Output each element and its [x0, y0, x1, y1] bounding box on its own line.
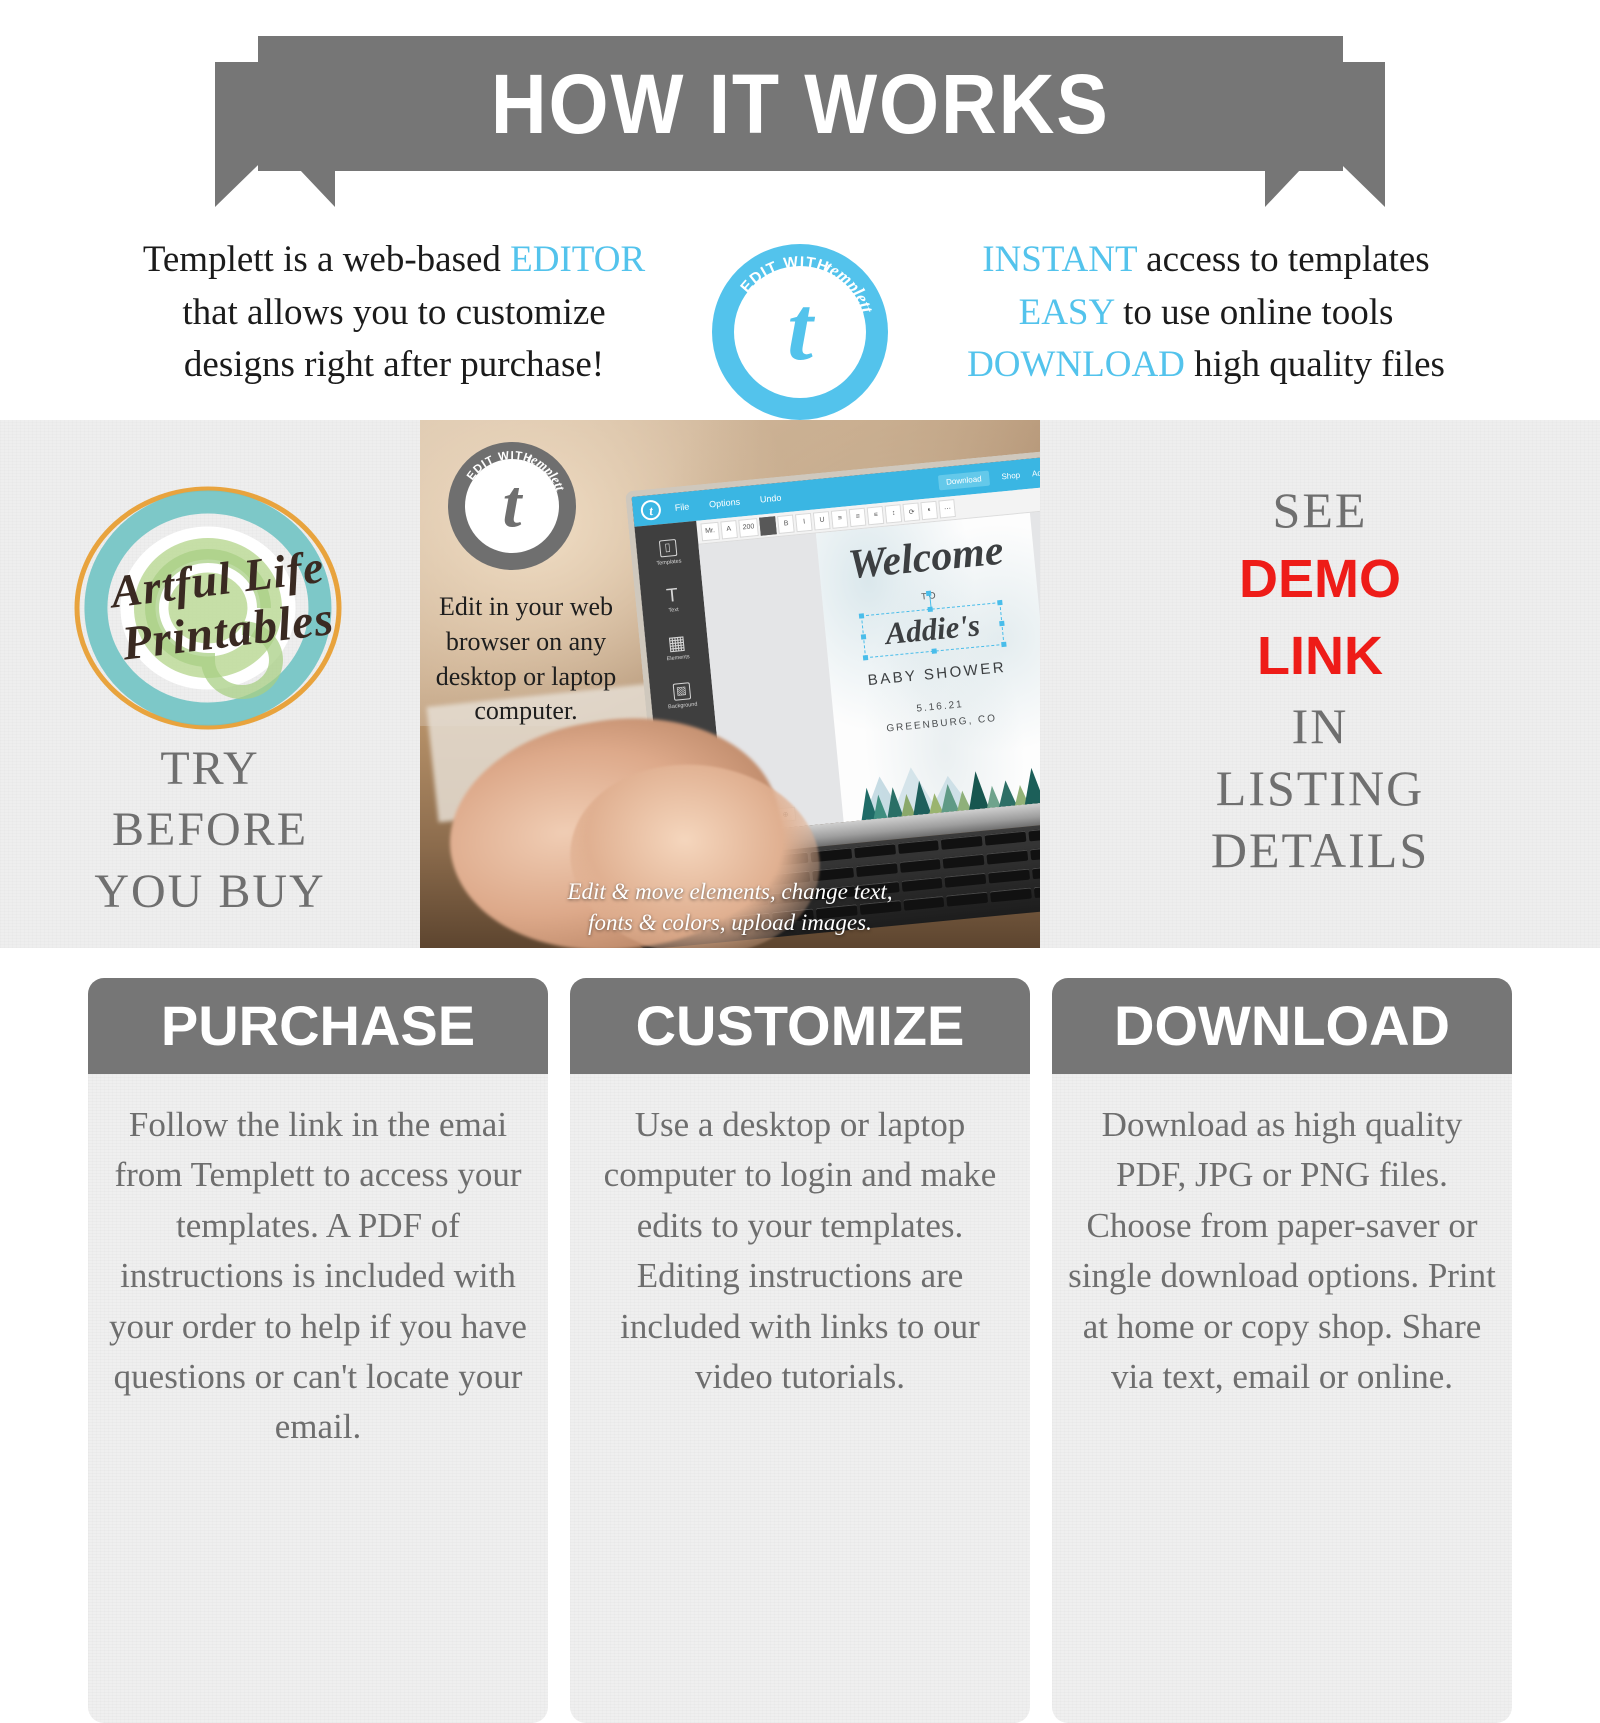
steps-cards: PURCHASE Follow the link in the emai fro… — [0, 978, 1600, 1723]
intro-right-line-3: DOWNLOAD high quality files — [896, 339, 1516, 392]
photo-caption-bottom: Edit & move elements, change text, fonts… — [420, 877, 1040, 938]
align-left-icon[interactable]: ≡ — [831, 509, 849, 528]
demo-link-column: SEE DEMO LINK IN LISTING DETAILS — [1040, 420, 1600, 948]
card-customize-title: CUSTOMIZE — [636, 998, 965, 1054]
intro-right-line-3-post: high quality files — [1185, 344, 1445, 385]
editor-shop-button[interactable]: Shop — [1001, 470, 1020, 481]
intro-left-line-2: that allows you to customize — [84, 287, 704, 340]
editor-logo-icon: t — [640, 499, 662, 521]
resize-handle-bc[interactable] — [932, 648, 937, 653]
intro-right-line-2-accent: EASY — [1019, 292, 1114, 333]
page-title: HOW IT WORKS — [491, 62, 1110, 146]
intro-left-line-1-pre: Templett is a web-based — [143, 239, 510, 280]
intro-right-line-2-post: to use online tools — [1114, 292, 1394, 333]
demo-line-in: IN — [1292, 695, 1349, 757]
badge-top-script: templett — [822, 257, 878, 316]
key — [854, 843, 896, 858]
template-date-location: 5.16.21 GREENBURG, CO — [832, 688, 1040, 742]
card-purchase-body: Follow the link in the emai from Templet… — [88, 1074, 548, 1723]
intro-section: Templett is a web-based EDITOR that allo… — [0, 228, 1600, 418]
try-line-2: BEFORE — [0, 799, 420, 860]
card-download-body: Download as high quality PDF, JPG or PNG… — [1052, 1074, 1512, 1723]
align-center-icon[interactable]: ≡ — [849, 507, 867, 526]
underline-button[interactable]: U — [813, 511, 831, 530]
key — [1029, 826, 1040, 841]
intro-right-line-1-post: access to templates — [1137, 239, 1430, 280]
intro-text-left: Templett is a web-based EDITOR that allo… — [84, 228, 704, 392]
rotate-icon[interactable]: ⟳ — [903, 502, 921, 521]
resize-handle-tl[interactable] — [858, 613, 863, 618]
photo-caption-bottom-line-2: fonts & colors, upload images. — [420, 908, 1040, 938]
intro-left-line-1-accent: EDITOR — [510, 239, 645, 280]
brand-column: Artful Life Printables TRY BEFORE YOU BU… — [0, 420, 420, 948]
card-customize: CUSTOMIZE Use a desktop or laptop comput… — [570, 978, 1030, 1723]
key — [897, 839, 939, 854]
key — [985, 831, 1027, 846]
template-name-text: Addie's — [884, 609, 981, 650]
key — [856, 862, 898, 877]
editor-admin-button[interactable]: Admin — [1032, 467, 1040, 478]
editor-topbar-actions: Download Shop Admin Help — [925, 461, 1040, 492]
key — [941, 835, 983, 850]
templett-badge-grey: t EDIT WITH templett EDITABLE TEMPLATE — [448, 442, 576, 570]
align-right-icon[interactable]: ≡ — [867, 505, 885, 524]
logo-text-group: Artful Life Printables — [54, 466, 363, 750]
card-download-header: DOWNLOAD — [1052, 978, 1512, 1074]
key — [1030, 845, 1040, 860]
key — [899, 858, 941, 873]
template-name-textbox[interactable]: Addie's — [861, 602, 1005, 658]
elements-icon: ▦ — [668, 634, 687, 653]
resize-handle-ml[interactable] — [860, 634, 865, 639]
template-document[interactable]: Welcome TO — [815, 513, 1040, 822]
laptop-photo: t EDIT WITH templett EDITABLE TEMPLATE — [420, 420, 1040, 948]
card-customize-body: Use a desktop or laptop computer to logi… — [570, 1074, 1030, 1723]
card-download-title: DOWNLOAD — [1114, 998, 1450, 1054]
banner-body: HOW IT WORKS — [258, 36, 1343, 171]
editor-menu-options[interactable]: Options — [709, 497, 741, 510]
demo-line-details: DETAILS — [1211, 819, 1429, 881]
middle-band: Artful Life Printables TRY BEFORE YOU BU… — [0, 420, 1600, 948]
key — [943, 854, 985, 869]
try-before-you-buy: TRY BEFORE YOU BUY — [0, 738, 420, 922]
text-color-swatch[interactable] — [760, 516, 778, 535]
intro-left-line-3: designs right after purchase! — [84, 339, 704, 392]
text-style-icon[interactable]: A — [720, 520, 738, 539]
badge-grey-top-text: EDIT WITH — [465, 450, 534, 483]
resize-handle-br[interactable] — [1001, 641, 1006, 646]
editor-menu-file[interactable]: File — [674, 501, 689, 512]
intro-right-line-1: INSTANT access to templates — [896, 234, 1516, 287]
card-purchase: PURCHASE Follow the link in the emai fro… — [88, 978, 548, 1723]
templett-badge-blue: t EDIT WITH templett EDITABLE TEMPLATE — [712, 244, 888, 420]
artful-life-printables-logo: Artful Life Printables — [68, 482, 348, 734]
intro-right-line-2: EASY to use online tools — [896, 287, 1516, 340]
resize-handle-tc[interactable] — [928, 607, 933, 612]
sidebar-item-templates[interactable]: ▯ Templates — [636, 537, 700, 569]
card-customize-header: CUSTOMIZE — [570, 978, 1030, 1074]
sidebar-label-templates: Templates — [656, 558, 682, 566]
intro-right-line-3-accent: DOWNLOAD — [967, 344, 1185, 385]
badge-curved-text: EDIT WITH templett EDITABLE TEMPLATE — [712, 244, 888, 420]
badge-grey-top-script: templett — [525, 450, 568, 494]
templates-icon: ▯ — [658, 539, 677, 558]
resize-handle-mr[interactable] — [999, 621, 1004, 626]
sidebar-label-background: Background — [668, 702, 698, 711]
intro-left-line-1: Templett is a web-based EDITOR — [84, 234, 704, 287]
sidebar-item-elements[interactable]: ▦ Elements — [645, 632, 709, 664]
key — [987, 850, 1029, 865]
text-icon: T — [663, 587, 682, 606]
font-family-select[interactable]: Mr. — [700, 521, 719, 541]
sidebar-label-text: Text — [668, 607, 679, 614]
intro-right-line-1-accent: INSTANT — [982, 239, 1137, 280]
background-icon: ▧ — [672, 682, 691, 701]
bold-button[interactable]: B — [777, 514, 795, 533]
demo-line-see: SEE — [1273, 479, 1368, 541]
more-options-icon[interactable]: ⋯ — [939, 498, 957, 517]
sidebar-item-text[interactable]: T Text — [641, 585, 705, 617]
font-size-input[interactable]: 200 — [738, 517, 759, 537]
template-welcome-text: Welcome — [817, 527, 1035, 589]
header-banner: HOW IT WORKS — [0, 36, 1600, 211]
italic-button[interactable]: I — [795, 512, 813, 531]
sidebar-label-elements: Elements — [667, 654, 690, 662]
editor-menu-undo[interactable]: Undo — [759, 493, 781, 505]
try-line-3: YOU BUY — [0, 861, 420, 922]
badge-top-text: EDIT WITH — [737, 254, 831, 297]
demo-line-demo: DEMO — [1239, 541, 1401, 618]
card-download: DOWNLOAD Download as high quality PDF, J… — [1052, 978, 1512, 1723]
photo-caption-left: Edit in your web browser on any desktop … — [426, 590, 626, 729]
badge-grey-curved-text: EDIT WITH templett EDITABLE TEMPLATE — [448, 442, 576, 570]
resize-handle-bl[interactable] — [862, 655, 867, 660]
resize-handle-tr[interactable] — [997, 600, 1002, 605]
demo-line-listing: LISTING — [1216, 757, 1424, 819]
sidebar-item-background[interactable]: ▧ Background — [650, 680, 714, 712]
infographic-page: HOW IT WORKS Templett is a web-based EDI… — [0, 0, 1600, 1723]
demo-line-link: LINK — [1257, 618, 1383, 695]
editor-download-button[interactable]: Download — [937, 470, 990, 490]
card-purchase-title: PURCHASE — [161, 998, 475, 1054]
try-line-1: TRY — [0, 738, 420, 799]
opacity-icon[interactable]: ◐ — [921, 500, 939, 519]
card-purchase-header: PURCHASE — [88, 978, 548, 1074]
template-event-text: BABY SHOWER — [829, 655, 1040, 693]
intro-text-right: INSTANT access to templates EASY to use … — [896, 228, 1516, 392]
photo-caption-bottom-line-1: Edit & move elements, change text, — [420, 877, 1040, 907]
line-spacing-icon[interactable]: ↕ — [885, 504, 903, 523]
